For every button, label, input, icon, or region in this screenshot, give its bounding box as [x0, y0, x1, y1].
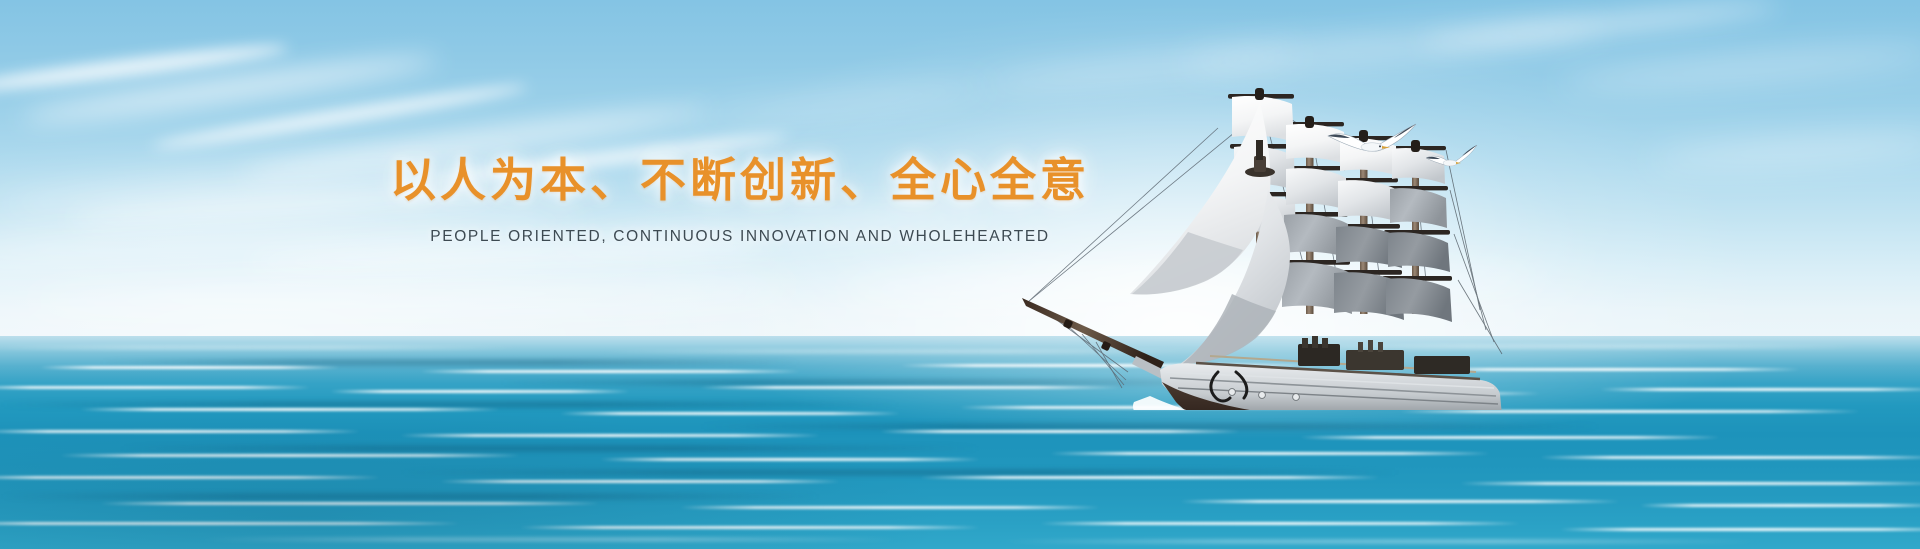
seagull-large-icon: [1328, 124, 1416, 151]
deck-structures: [1298, 336, 1470, 374]
sea-background: [0, 336, 1920, 549]
bowsprit: [1022, 298, 1180, 386]
banner-subheadline: PEOPLE ORIENTED, CONTINUOUS INNOVATION A…: [0, 228, 1480, 246]
banner-headline: 以人为本、不断创新、全心全意: [0, 150, 1480, 211]
hero-banner: 以人为本、不断创新、全心全意 PEOPLE ORIENTED, CONTINUO…: [0, 0, 1920, 549]
banner-text-block: 以人为本、不断创新、全心全意 PEOPLE ORIENTED, CONTINUO…: [0, 150, 1480, 246]
